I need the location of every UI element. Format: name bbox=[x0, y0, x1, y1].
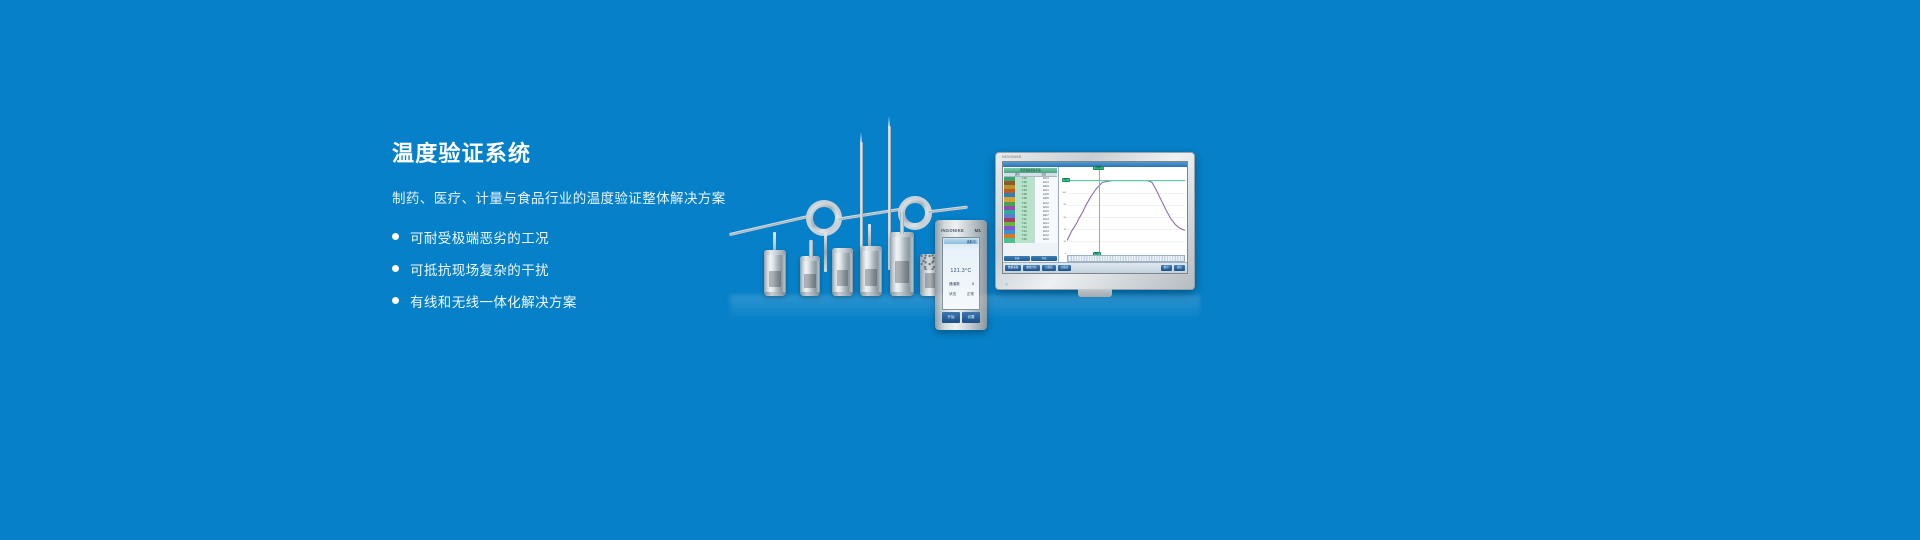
handheld-brand-row: INGONIKE M1 bbox=[941, 226, 981, 234]
handheld-row-value: 8 bbox=[972, 282, 974, 287]
data-logger-3 bbox=[832, 248, 853, 296]
table-selectall-button[interactable]: 全选 bbox=[1004, 256, 1030, 261]
column-header-value: 温度 bbox=[1031, 173, 1058, 176]
monitor-screen[interactable]: 温度验证分析系统 通道数据采集列表 通道 温度 T-01121.4T-02121… bbox=[1002, 161, 1188, 274]
feature-bullet-label: 可抵抗现场复杂的干扰 bbox=[410, 259, 549, 279]
y-axis-tick: 100 bbox=[1062, 192, 1066, 194]
table-footer-buttons: 全选 导出 bbox=[1004, 256, 1057, 261]
power-led-icon bbox=[1005, 283, 1008, 286]
handheld-row-label: 通道数 bbox=[949, 282, 960, 287]
y-axis-tick: 80 bbox=[1064, 204, 1066, 206]
logger-label bbox=[769, 271, 781, 287]
toolbar-button-6[interactable]: 退出 bbox=[1174, 265, 1185, 271]
chart-horizontal-scrollbar[interactable] bbox=[1067, 255, 1185, 262]
handheld-reader-device[interactable]: INGONIKE M1 读取中 121.3°C 通道数 8 状态 正常 开始 bbox=[935, 220, 987, 330]
cell-channel: T-16 bbox=[1015, 238, 1034, 242]
handheld-primary-value: 121.3°C bbox=[943, 268, 979, 274]
toolbar-button-1[interactable]: 数据采集 bbox=[1005, 265, 1021, 271]
probe-tail bbox=[928, 206, 968, 213]
handheld-model-label: M1 bbox=[975, 228, 981, 233]
feature-bullet-label: 有线和无线一体化解决方案 bbox=[410, 291, 577, 311]
handheld-row-2: 状态 正常 bbox=[949, 292, 974, 297]
data-logger-4 bbox=[860, 246, 882, 296]
needle-tip-icon bbox=[888, 116, 890, 128]
handheld-settings-button[interactable]: 设置 bbox=[962, 312, 980, 323]
bullet-dot-icon bbox=[392, 297, 399, 304]
data-logger-5 bbox=[890, 232, 914, 296]
data-logger-1 bbox=[764, 250, 786, 296]
y-axis-tick: 20 bbox=[1064, 241, 1066, 243]
chart-marker-b-left[interactable]: B点 bbox=[1062, 178, 1070, 182]
toolbar-button-5[interactable]: 统计 bbox=[1161, 265, 1172, 271]
chart-marker-a-top[interactable]: 灭菌段 bbox=[1093, 166, 1104, 170]
cell-value: 121.0 bbox=[1034, 238, 1057, 242]
chart-marker-hline bbox=[1067, 180, 1185, 181]
handheld-screen[interactable]: 读取中 121.3°C 通道数 8 状态 正常 bbox=[942, 237, 980, 310]
y-axis-tick: 60 bbox=[1064, 217, 1066, 219]
logger-label bbox=[837, 270, 849, 286]
handheld-row-label: 状态 bbox=[949, 292, 956, 297]
column-header-channel: 通道 bbox=[1004, 173, 1031, 176]
channel-color-swatch bbox=[1004, 238, 1015, 242]
temperature-curve-chart[interactable]: 020406080100120 灭菌段 A点 B点 bbox=[1059, 167, 1187, 262]
product-image-cluster: INGONIKE M1 读取中 121.3°C 通道数 8 状态 正常 开始 bbox=[720, 120, 1220, 320]
probe-coil-ring bbox=[806, 200, 842, 236]
monitor-brand-label: INGONIKE bbox=[1002, 155, 1022, 159]
monitor-stand bbox=[1078, 289, 1112, 297]
bullet-dot-icon bbox=[392, 265, 399, 272]
chart-marker-vline bbox=[1099, 169, 1100, 254]
channel-data-table[interactable]: 通道数据采集列表 通道 温度 T-01121.4T-02121.3T-03120… bbox=[1003, 167, 1059, 262]
handheld-brand-label: INGONIKE bbox=[941, 228, 964, 233]
chart-plot-area: 灭菌段 A点 B点 bbox=[1067, 169, 1185, 254]
chart-svg bbox=[1067, 169, 1185, 254]
logger-stub bbox=[809, 240, 813, 258]
hero-banner: 温度验证系统 制药、医疗、计量与食品行业的温度验证整体解决方案 可耐受极端恶劣的… bbox=[0, 0, 1920, 540]
needle-tip-icon bbox=[860, 132, 862, 144]
logger-stub bbox=[900, 212, 904, 234]
software-toolbar[interactable]: 数据采集曲线分析上报表点报表统计退出 bbox=[1003, 262, 1187, 273]
handheld-row-1: 通道数 8 bbox=[949, 282, 974, 287]
logger-label bbox=[895, 261, 908, 283]
toolbar-button-3[interactable]: 上报表 bbox=[1042, 265, 1056, 271]
chart-series-line bbox=[1067, 181, 1185, 241]
toolbar-button-2[interactable]: 曲线分析 bbox=[1023, 265, 1039, 271]
logger-label bbox=[804, 274, 815, 288]
handheld-button-row: 开始 设置 bbox=[942, 312, 980, 323]
software-body: 通道数据采集列表 通道 温度 T-01121.4T-02121.3T-03120… bbox=[1003, 167, 1187, 262]
panel-monitor: INGONIKE 温度验证分析系统 通道数据采集列表 通道 温度 T-01121… bbox=[995, 152, 1195, 290]
bullet-dot-icon bbox=[392, 233, 399, 240]
probe-tail bbox=[729, 215, 809, 236]
handheld-status-text: 读取中 bbox=[966, 239, 976, 244]
handheld-row-value: 正常 bbox=[967, 292, 974, 297]
y-axis-tick: 40 bbox=[1064, 229, 1066, 231]
probe-stem bbox=[824, 232, 827, 272]
toolbar-button-4[interactable]: 点报表 bbox=[1058, 265, 1072, 271]
handheld-statusbar: 读取中 bbox=[944, 239, 978, 244]
table-row-container[interactable]: T-01121.4T-02121.3T-03120.9T-04121.1T-05… bbox=[1004, 177, 1057, 255]
data-logger-2 bbox=[800, 256, 820, 296]
chart-gridlines bbox=[1067, 181, 1185, 254]
logger-label bbox=[865, 269, 877, 286]
table-row[interactable]: T-16121.0 bbox=[1004, 238, 1057, 242]
y-axis-tick: 0 bbox=[1065, 253, 1066, 255]
table-export-button[interactable]: 导出 bbox=[1031, 256, 1057, 261]
feature-bullet-label: 可耐受极端恶劣的工况 bbox=[410, 227, 549, 247]
handheld-start-button[interactable]: 开始 bbox=[942, 312, 960, 323]
